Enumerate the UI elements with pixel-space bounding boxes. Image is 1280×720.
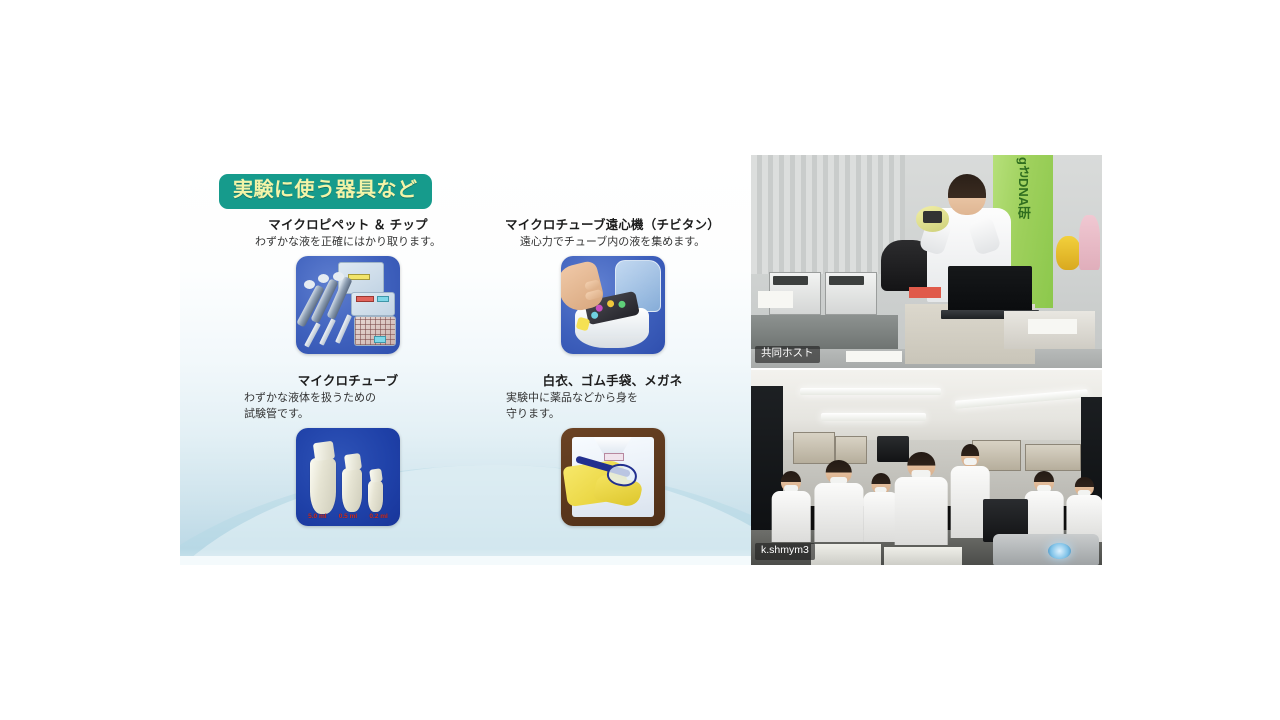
volume-label: 5.0 ml [308,513,326,520]
item-description-line-2: 守ります。 [480,407,745,421]
person-student [1025,471,1064,541]
item-description-line-1: わずかな液体を扱うための [218,391,478,405]
participant-name-tag: k.shmym3 [755,543,815,560]
volume-label: 0.5 ml [339,513,357,520]
item-heading: マイクロチューブ [218,373,478,389]
item-description-line-1: 実験中に薬品などから身を [480,391,745,405]
video-tile-student-room[interactable]: k.shmym3 [751,370,1102,565]
micropipette-photo [296,256,400,354]
item-thumbnail-wrap [480,428,745,526]
microtube-photo: 5.0 ml 0.5 ml 0.2 ml [296,428,400,526]
slide-item-microtube: マイクロチューブ わずかな液体を扱うための 試験管です。 5.0 ml 0.5 … [218,373,478,526]
microtube-volume-labels: 5.0 ml 0.5 ml 0.2 ml [296,513,400,520]
person-student [863,473,898,541]
slide-title: 実験に使う器具など [219,174,432,209]
banner-text: gさDNA研 [1016,157,1030,219]
item-heading: マイクロチューブ遠心機（チビタン） [480,217,745,233]
slide-item-micropipette: マイクロピペット ＆ チップ わずかな液を正確にはかり取ります。 [218,217,478,354]
participant-video-column: gさDNA研 [751,155,1102,565]
video-tile-host[interactable]: gさDNA研 [751,155,1102,370]
screen-share-view: 実験に使う器具など マイクロピペット ＆ チップ わずかな液を正確にはかり取りま… [0,0,1280,720]
slide-decoration-bottom-bar [180,556,751,565]
item-description: わずかな液を正確にはかり取ります。 [218,235,478,249]
centrifuge-photo [561,256,665,354]
person-student [772,471,811,541]
shared-content-area: 実験に使う器具など マイクロピペット ＆ チップ わずかな液を正確にはかり取りま… [180,155,1102,565]
person-student [1067,477,1102,541]
presentation-slide: 実験に使う器具など マイクロピペット ＆ チップ わずかな液を正確にはかり取りま… [180,155,751,565]
slide-item-protective-gear: 白衣、ゴム手袋、メガネ 実験中に薬品などから身を 守ります。 [480,373,745,526]
item-heading: 白衣、ゴム手袋、メガネ [480,373,745,389]
item-description: 遠心力でチューブ内の液を集めます。 [480,235,745,249]
protective-gear-photo [561,428,665,526]
volume-label: 0.2 ml [369,513,387,520]
item-thumbnail-wrap: 5.0 ml 0.5 ml 0.2 ml [218,428,478,526]
item-thumbnail-wrap [480,256,745,354]
item-description-line-2: 試験管です。 [218,407,478,421]
person-student [814,460,863,542]
person-student [895,452,948,546]
item-thumbnail-wrap [218,256,478,354]
slide-item-centrifuge: マイクロチューブ遠心機（チビタン） 遠心力でチューブ内の液を集めます。 [480,217,745,354]
participant-name-tag: 共同ホスト [755,346,820,363]
item-heading: マイクロピペット ＆ チップ [218,217,478,233]
